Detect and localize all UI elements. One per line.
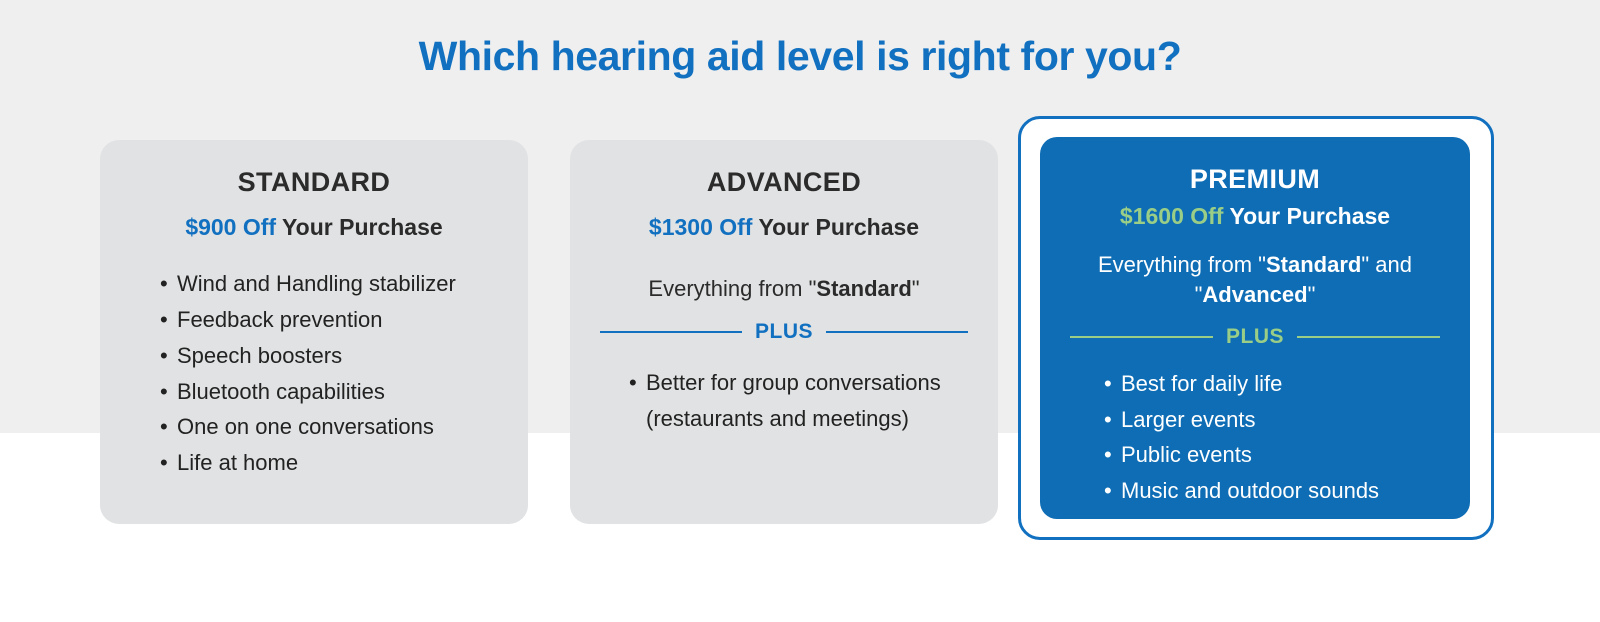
inherits-tier-standard: Standard (1266, 252, 1361, 277)
card-content-premium: PREMIUM $1600 Off Your Purchase Everythi… (1040, 137, 1470, 519)
page-title: Which hearing aid level is right for you… (0, 33, 1600, 80)
card-content-standard: STANDARD $900 Off Your Purchase Wind and… (100, 140, 528, 524)
pricing-card-premium[interactable]: PREMIUM $1600 Off Your Purchase Everythi… (1040, 137, 1470, 519)
feature-list-standard: Wind and Handling stabilizer Feedback pr… (130, 266, 498, 481)
inherits-tier-advanced: Advanced (1202, 282, 1307, 307)
tier-name-standard: STANDARD (130, 167, 498, 198)
list-item: One on one conversations (160, 409, 498, 445)
inherits-text-premium: Everything from "Standard" and "Advanced… (1070, 250, 1440, 311)
offer-premium: $1600 Off Your Purchase (1070, 203, 1440, 230)
plus-divider-advanced: PLUS (600, 320, 968, 344)
offer-suffix-premium: Your Purchase (1223, 203, 1390, 229)
inherits-prefix: Everything from " (1098, 252, 1266, 277)
list-item: Feedback prevention (160, 302, 498, 338)
list-item: Better for group conversations (restaura… (629, 365, 968, 437)
pricing-card-advanced[interactable]: ADVANCED $1300 Off Your Purchase Everyth… (570, 140, 998, 524)
tier-name-premium: PREMIUM (1070, 164, 1440, 195)
list-item: Music and outdoor sounds (1104, 473, 1440, 509)
plus-label-premium: PLUS (1226, 325, 1284, 349)
inherits-suffix: " (1308, 282, 1316, 307)
offer-amount-advanced: $1300 Off (649, 214, 753, 240)
inherits-prefix: Everything from " (648, 276, 816, 301)
offer-amount-premium: $1600 Off (1120, 203, 1224, 229)
list-item: Public events (1104, 437, 1440, 473)
feature-list-advanced: Better for group conversations (restaura… (600, 365, 968, 437)
offer-standard: $900 Off Your Purchase (130, 214, 498, 241)
divider-rule-right (826, 331, 968, 333)
inherits-text-advanced: Everything from "Standard" (600, 274, 968, 304)
tier-name-advanced: ADVANCED (600, 167, 968, 198)
offer-amount-standard: $900 Off (185, 214, 276, 240)
list-item: Wind and Handling stabilizer (160, 266, 498, 302)
inherits-tier-standard: Standard (816, 276, 911, 301)
card-content-advanced: ADVANCED $1300 Off Your Purchase Everyth… (570, 140, 998, 524)
divider-rule-left (1070, 336, 1213, 338)
plus-divider-premium: PLUS (1070, 325, 1440, 349)
pricing-comparison-page: Which hearing aid level is right for you… (0, 0, 1600, 622)
feature-list-premium: Best for daily life Larger events Public… (1070, 366, 1440, 509)
inherits-suffix: " (912, 276, 920, 301)
list-item: Life at home (160, 445, 498, 481)
list-item: Speech boosters (160, 338, 498, 374)
offer-advanced: $1300 Off Your Purchase (600, 214, 968, 241)
plus-label-advanced: PLUS (755, 320, 813, 344)
divider-rule-right (1297, 336, 1440, 338)
offer-suffix-advanced: Your Purchase (752, 214, 919, 240)
pricing-card-standard[interactable]: STANDARD $900 Off Your Purchase Wind and… (100, 140, 528, 524)
list-item: Best for daily life (1104, 366, 1440, 402)
offer-suffix-standard: Your Purchase (276, 214, 443, 240)
list-item: Larger events (1104, 402, 1440, 438)
divider-rule-left (600, 331, 742, 333)
list-item: Bluetooth capabilities (160, 374, 498, 410)
